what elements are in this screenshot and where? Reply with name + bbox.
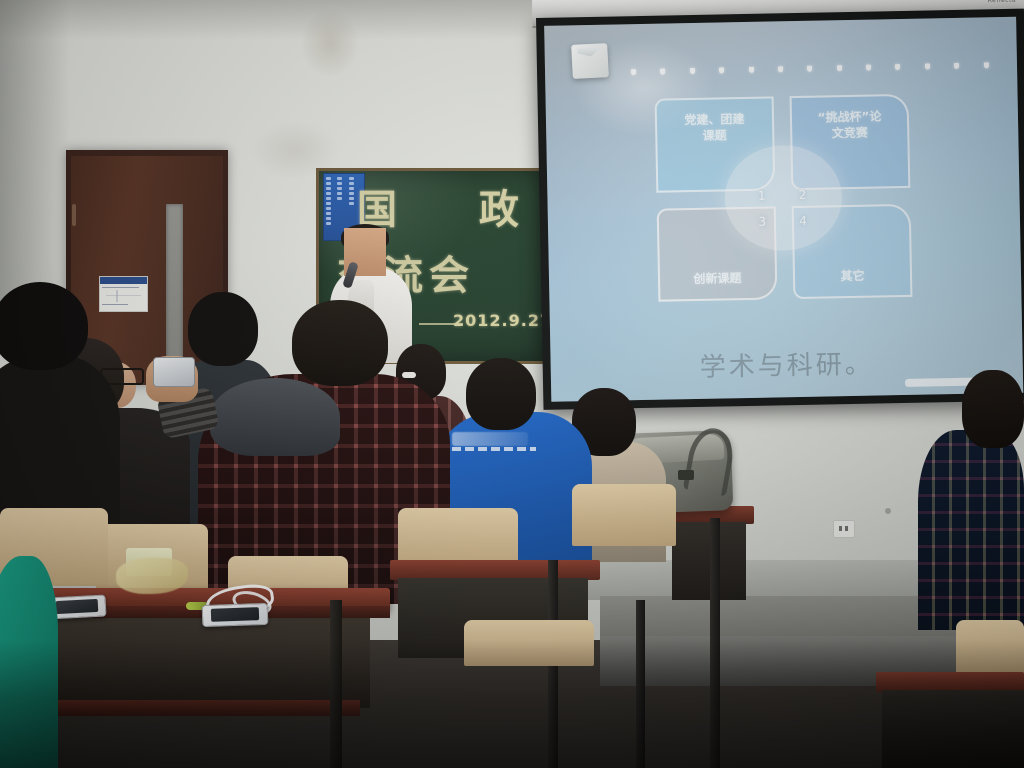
- projection-screen-frame: 党建、团建课题 “挑战杯”论文竞赛 创新课题 其它 1 2 3 4 学术与科研。: [536, 9, 1024, 410]
- slide-quadrant-number-2: 2: [799, 187, 807, 201]
- far-right-desk-body: [882, 690, 1024, 768]
- hair-clip-icon: [402, 372, 416, 378]
- seat-back: [956, 620, 1024, 674]
- student-plaid-hoodie-head: [292, 300, 388, 386]
- door-hinge-icon: [72, 204, 76, 226]
- slide-dot-icon: [748, 67, 753, 73]
- slide-dot-icon: [895, 64, 900, 70]
- slide-quadrant-number-4: 4: [799, 214, 807, 228]
- screen-brand-label: Reflecta: [988, 0, 1017, 4]
- slide-quadrant-number-3: 3: [758, 215, 766, 229]
- blackboard-date: 2012.9.27: [453, 311, 547, 330]
- snack-bag: [116, 558, 188, 594]
- projection-screen-surface: 党建、团建课题 “挑战杯”论文竞赛 创新课题 其它 1 2 3 4 学术与科研。: [544, 17, 1023, 402]
- slide-dot-icon: [719, 68, 724, 74]
- slide-dot-icon: [866, 65, 871, 71]
- slide-dot-icon: [983, 62, 988, 68]
- student-green-sleeve-arm: [0, 556, 58, 768]
- handbag-buckle: [678, 470, 694, 480]
- student-right-plaid-head: [962, 370, 1024, 448]
- jacket-logo-text: [452, 447, 536, 451]
- slide-dot-icon: [807, 66, 812, 72]
- slide-dot-icon: [837, 65, 842, 71]
- slide-dot-icon: [778, 66, 783, 72]
- student-front-left-head: [0, 282, 88, 370]
- slide-dot-icon: [925, 64, 930, 70]
- side-desk-body: [672, 522, 746, 600]
- far-right-desk: [876, 672, 1024, 692]
- front-desk-leg: [330, 600, 342, 768]
- seat-back: [464, 620, 594, 666]
- slide-dot-icon: [954, 63, 959, 69]
- wall-box-face: [577, 47, 602, 60]
- sign-map-graphic: [106, 290, 140, 302]
- slide-quadrant-number-1: 1: [758, 188, 766, 202]
- sign-text-line: [102, 304, 128, 305]
- sign-text-line: [102, 287, 139, 288]
- power-socket-icon: [833, 520, 855, 538]
- student-front-left-body: [0, 355, 120, 525]
- poster-text-column: [349, 177, 354, 207]
- wall-mark: [885, 508, 891, 514]
- student-dark-jacket-head: [188, 292, 258, 366]
- camera-icon: [153, 357, 195, 387]
- student-right-plaid-body: [918, 430, 1024, 630]
- poster-text-column: [337, 177, 342, 202]
- middle-desk: [390, 560, 600, 580]
- poster-text-column: [326, 207, 331, 227]
- hoodie-hood: [210, 378, 340, 456]
- slide-quadrant-diagram: 党建、团建课题 “挑战杯”论文竞赛 创新课题 其它 1 2 3 4: [654, 94, 913, 302]
- slide-dot-icon: [690, 68, 695, 74]
- desk-leg: [710, 518, 720, 768]
- white-wall-box-icon: [571, 43, 609, 79]
- classroom-photo: 国 政 交流会 2012.9.27 Reflecta: [0, 0, 1024, 768]
- student-blue-jacket-head: [466, 358, 536, 430]
- wall-stain: [300, 8, 360, 78]
- seat-back: [572, 484, 676, 546]
- blackboard-title-top: 国 政: [357, 177, 547, 235]
- sign-header-bar: [100, 277, 147, 284]
- slide-dot-icon: [660, 69, 665, 75]
- smartphone-right[interactable]: [202, 603, 269, 627]
- jacket-logo-icon: [452, 432, 528, 446]
- desk-support-bar: [636, 600, 645, 768]
- phone-screen: [56, 599, 99, 614]
- slide-dot-icon: [631, 69, 636, 75]
- poster-text-column: [326, 177, 331, 207]
- sign-body: [100, 284, 147, 308]
- wall-corner-shading: [0, 0, 70, 330]
- evacuation-map-sign: [99, 276, 148, 312]
- phone-screen: [211, 607, 259, 622]
